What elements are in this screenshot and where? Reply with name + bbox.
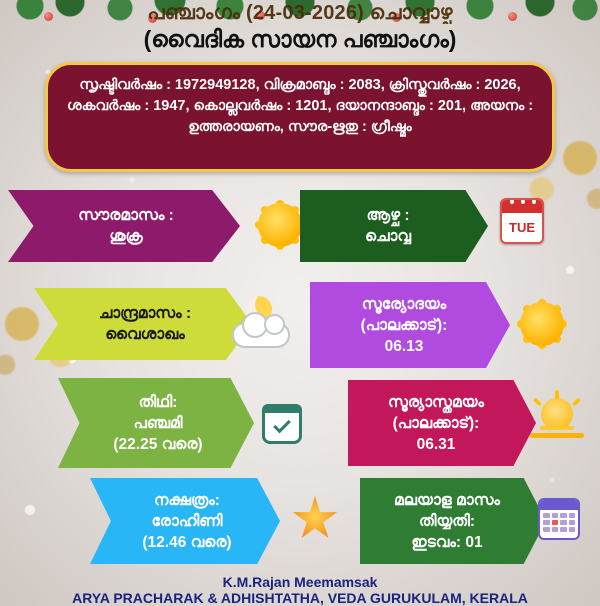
card-nakshatram-text: നക്ഷത്രം: രോഹിണി (12.46 വരെ) — [120, 490, 254, 553]
panchangam-poster: പഞ്ചാംഗം (24-03-2026) ചൊവ്വാഴ്ച (വൈദിക സ… — [0, 0, 600, 600]
calendar-day-label: TUE — [502, 213, 542, 243]
card-malayala-masam: മലയാള മാസം തിയ്യതി: ഇടവം: 01 — [360, 478, 546, 564]
card-nakshatram: നക്ഷത്രം: രോഹിണി (12.46 വരെ) — [90, 478, 280, 564]
card-soura-masam-text: സൗരമാസം : ശുക്ര — [38, 205, 214, 247]
footer-author: K.M.Rajan Meemamsak — [0, 574, 600, 590]
star-icon — [292, 496, 338, 542]
card-thithi: തിഥി: പഞ്ചമി (22.25 വരെ) — [58, 378, 254, 468]
moon-cloud-icon — [232, 296, 292, 348]
card-sunrise: സൂര്യോദയം (പാലക്കാട്): 06.13 — [310, 282, 510, 368]
poster-title: പഞ്ചാംഗം (24-03-2026) ചൊവ്വാഴ്ച (വൈദിക സ… — [0, 0, 600, 54]
title-line-1: പഞ്ചാംഗം (24-03-2026) ചൊവ്വാഴ്ച — [0, 0, 600, 24]
year-info-box: സൃഷ്ടിവർഷം : 1972949128, വിക്രമാബ്ദം : 2… — [45, 62, 555, 172]
calendar-grid-icon — [538, 498, 580, 540]
card-malayala-masam-text: മലയാള മാസം തിയ്യതി: ഇടവം: 01 — [374, 490, 520, 553]
check-calendar-icon — [262, 404, 302, 444]
card-azhcha-text: ആഴ്ച : ചൊവ്വ — [314, 205, 462, 247]
title-line-2: (വൈദിക സായന പഞ്ചാംഗം) — [0, 24, 600, 54]
card-chandra-masam-text: ചാന്ദ്രമാസം : വൈശാഖം — [64, 303, 226, 345]
card-azhcha: ആഴ്ച : ചൊവ്വ — [300, 190, 488, 262]
calendar-tue-icon: TUE — [500, 198, 544, 244]
card-sunrise-text: സൂര്യോദയം (പാലക്കാട്): 06.13 — [324, 294, 484, 357]
card-sunset: സൂര്യാസ്തമയം (പാലക്കാട്): 06.31 — [348, 380, 536, 466]
card-soura-masam: സൗരമാസം : ശുക്ര — [8, 190, 240, 262]
sun-icon-1 — [258, 203, 302, 247]
sun-icon-2 — [520, 302, 564, 346]
card-thithi-text: തിഥി: പഞ്ചമി (22.25 വരെ) — [88, 392, 228, 455]
footer-org: ARYA PRACHARAK & ADHISHTATHA, VEDA GURUK… — [0, 590, 600, 606]
card-chandra-masam: ചാന്ദ്രമാസം : വൈശാഖം — [34, 288, 252, 360]
card-sunset-text: സൂര്യാസ്തമയം (പാലക്കാട്): 06.31 — [362, 392, 510, 455]
sunset-icon — [528, 396, 586, 440]
